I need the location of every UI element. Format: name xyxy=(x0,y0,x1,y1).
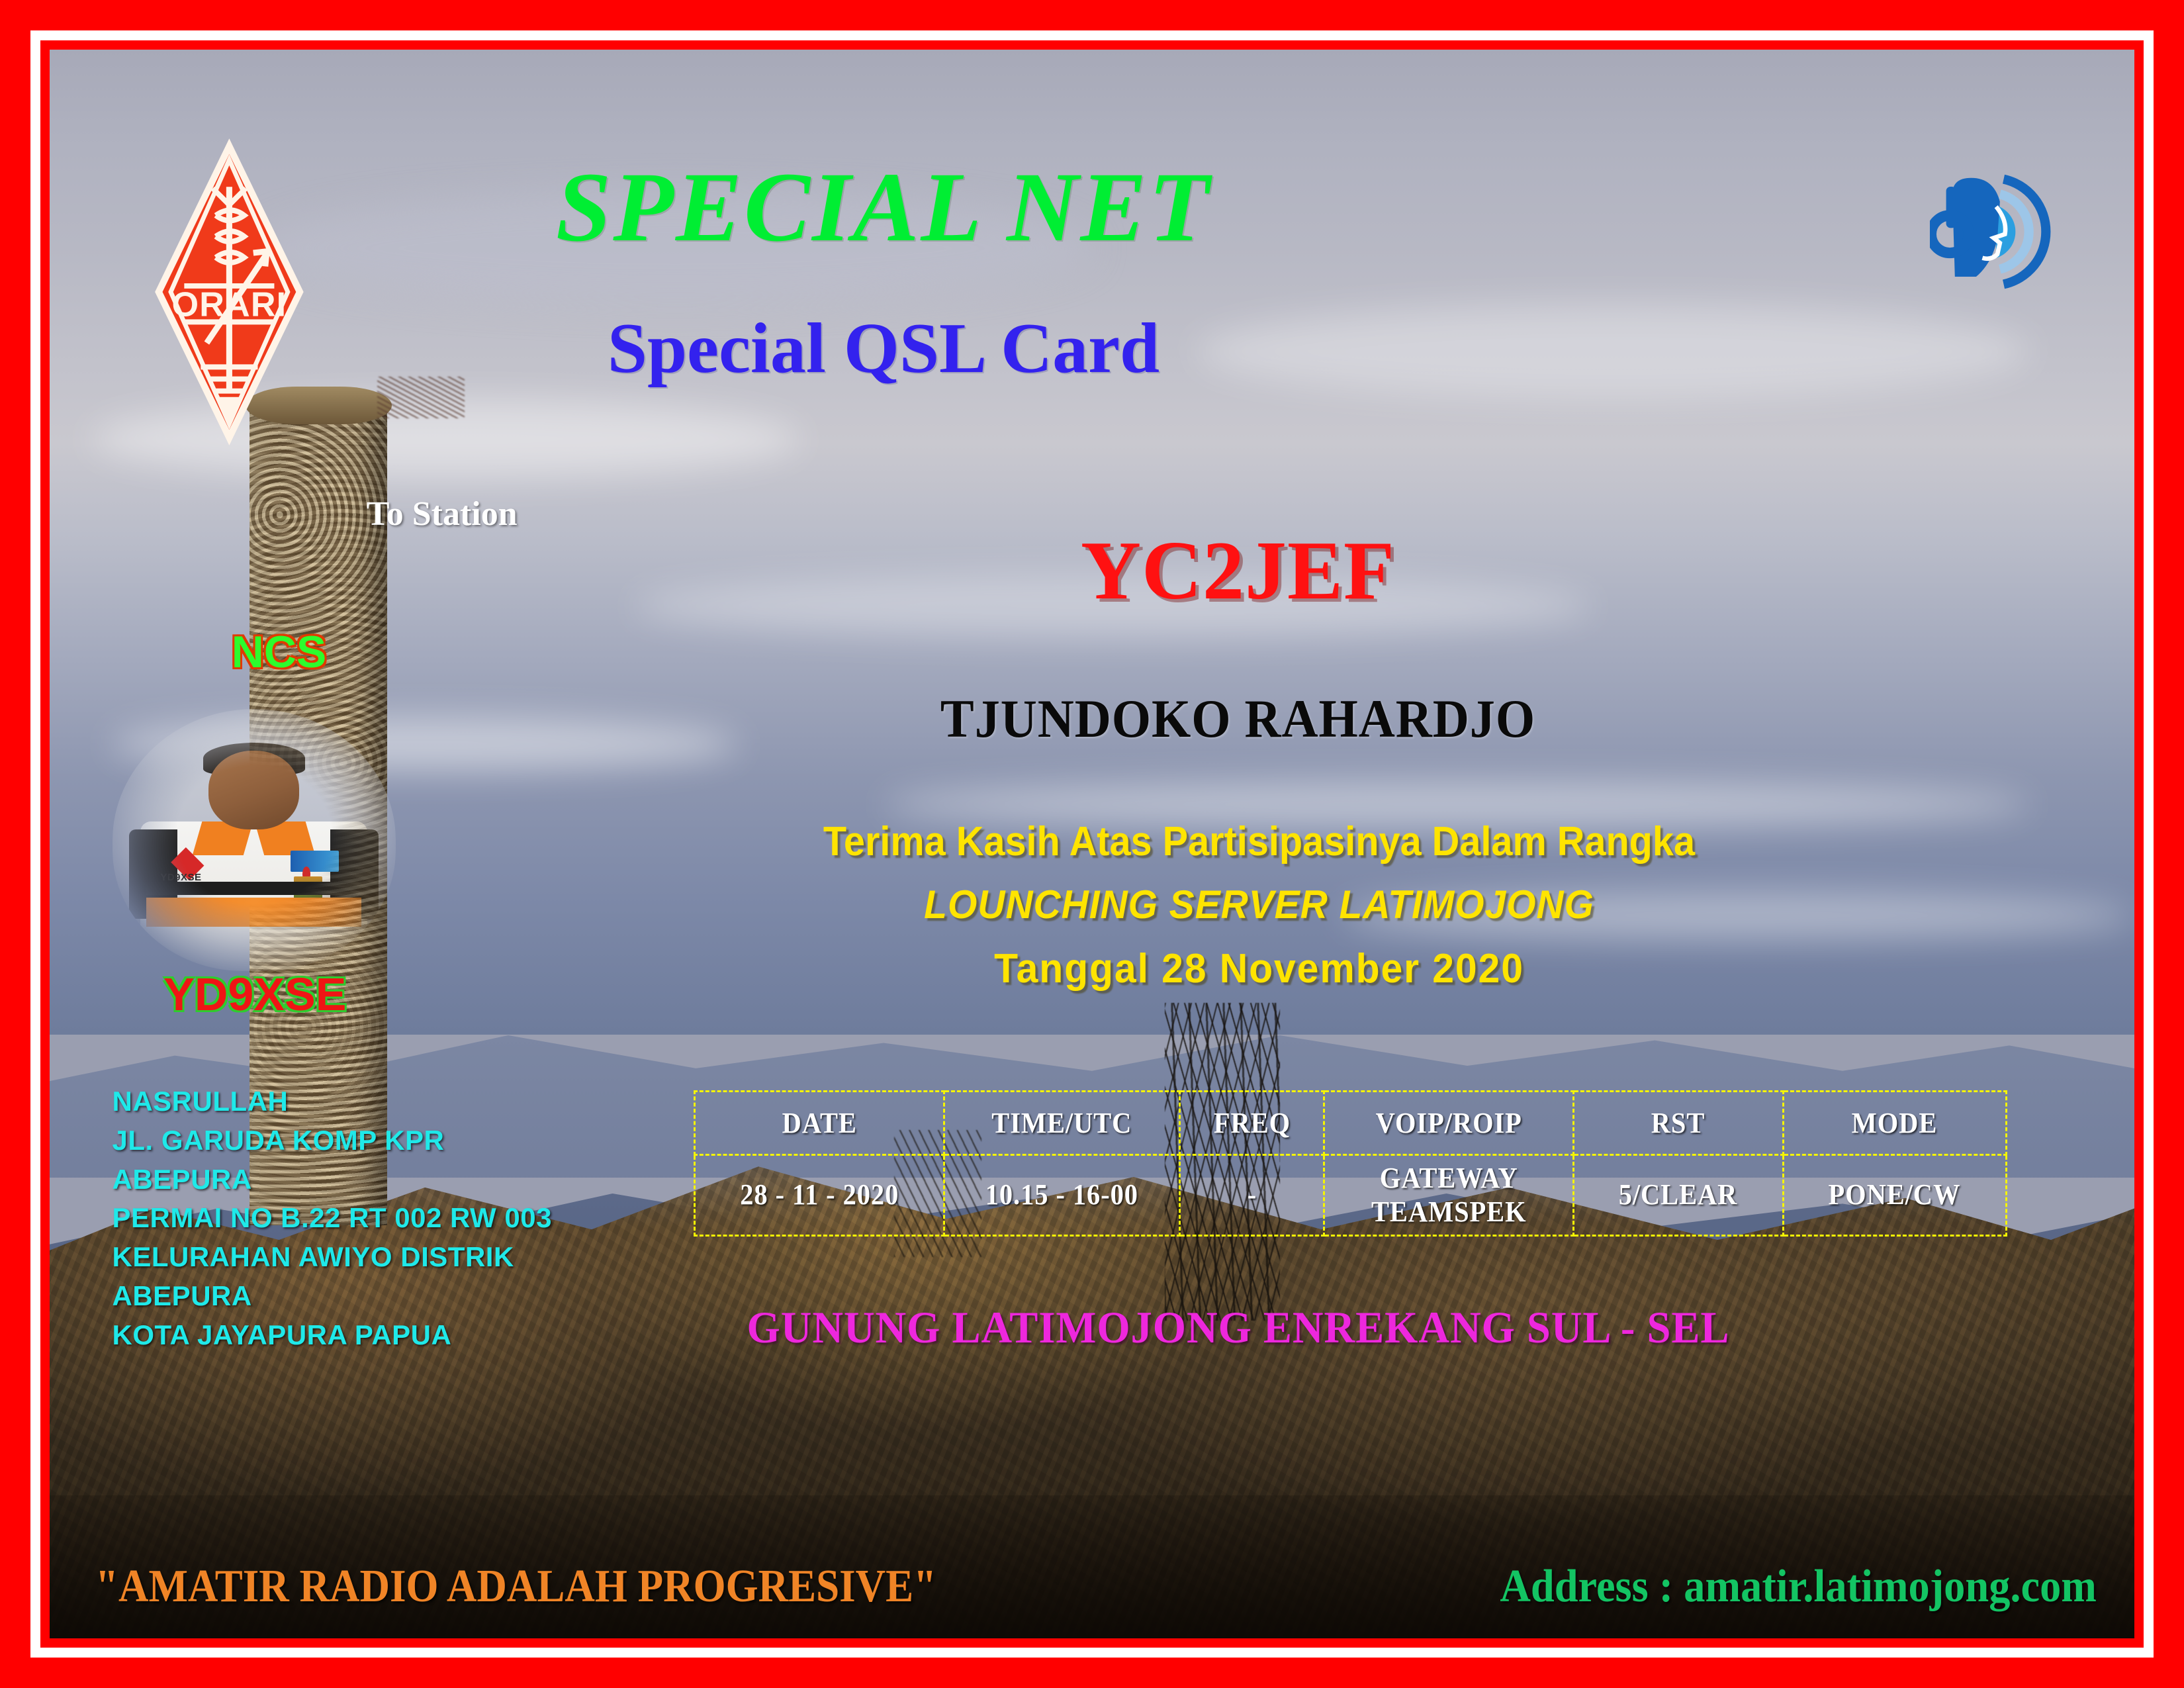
cell-voip-line2: TEAMSPEK xyxy=(1371,1196,1527,1228)
address-line: KOTA JAYAPURA PAPUA xyxy=(113,1316,552,1355)
column-header-rst: RST xyxy=(1582,1092,1775,1155)
ncs-label: NCS xyxy=(175,630,383,675)
cell-voip: GATEWAY TEAMSPEK xyxy=(1334,1155,1563,1236)
table-row: 28 - 11 - 2020 10.15 - 16-00 - GATEWAY T… xyxy=(695,1155,2007,1236)
orange-sash xyxy=(146,898,362,927)
station-callsign: YC2JEF xyxy=(967,530,1509,613)
address-block: NASRULLAH JL. GARUDA KOMP KPR ABEPURA PE… xyxy=(113,1082,552,1355)
qsl-card-frame: ORARI xyxy=(0,0,2184,1688)
qso-log-table: DATE TIME/UTC FREQ VOIP/ROIP RST MODE 28… xyxy=(694,1090,2007,1237)
column-header-freq: FREQ xyxy=(1186,1092,1319,1155)
address-line: JL. GARUDA KOMP KPR xyxy=(113,1121,552,1160)
cell-time: 10.15 - 16-00 xyxy=(954,1155,1171,1236)
address-line: ABEPURA xyxy=(113,1277,552,1316)
chest-patch xyxy=(291,851,339,872)
table-header-row: DATE TIME/UTC FREQ VOIP/ROIP RST MODE xyxy=(695,1092,2007,1155)
event-occasion: LOUNCHING SERVER LATIMOJONG xyxy=(724,885,1794,925)
operator-name: TJUNDOKO RAHARDJO xyxy=(792,692,1684,746)
event-date: Tanggal 28 November 2020 xyxy=(724,949,1794,990)
column-header-date: DATE xyxy=(705,1092,934,1155)
orari-logo: ORARI xyxy=(154,97,304,487)
voip-headset-logo xyxy=(1930,101,2068,363)
belt xyxy=(146,882,362,895)
page-subtitle: Special QSL Card xyxy=(258,313,1509,385)
to-station-label: To Station xyxy=(367,494,518,534)
address-line: KELURAHAN AWIYO DISTRIK xyxy=(113,1238,552,1277)
footer-slogan: "AMATIR RADIO ADALAH PROGRESIVE" xyxy=(95,1564,936,1610)
address-line: NASRULLAH xyxy=(113,1082,552,1121)
uniform-callsign-text: YD9XSE xyxy=(160,872,201,883)
cell-rst: 5/CLEAR xyxy=(1582,1155,1775,1236)
cell-date: 28 - 11 - 2020 xyxy=(705,1155,934,1236)
frame-white-gap: ORARI xyxy=(30,30,2154,1658)
face xyxy=(208,751,299,829)
ncs-callsign: YD9XSE xyxy=(104,971,406,1017)
ncs-operator-photo: YD9XSE xyxy=(113,709,396,971)
page-title: SPECIAL NET xyxy=(258,158,1509,257)
cell-voip-line1: GATEWAY xyxy=(1380,1162,1518,1194)
column-header-time: TIME/UTC xyxy=(954,1092,1171,1155)
cell-freq: - xyxy=(1186,1155,1319,1236)
cell-mode: PONE/CW xyxy=(1792,1155,1997,1236)
column-header-mode: MODE xyxy=(1792,1092,1997,1155)
thanks-message: Terima Kasih Atas Partisipasinya Dalam R… xyxy=(735,821,1782,863)
address-line: PERMAI NO B.22 RT 002 RW 003 xyxy=(113,1199,552,1238)
frame-inner-red: ORARI xyxy=(40,40,2144,1648)
location-caption: GUNUNG LATIMOJONG ENREKANG SUL - SEL xyxy=(644,1305,1833,1350)
card-background-photo: ORARI xyxy=(50,50,2134,1638)
address-line: ABEPURA xyxy=(113,1160,552,1199)
column-header-voip: VOIP/ROIP xyxy=(1334,1092,1563,1155)
footer-website: Address : amatir.latimojong.com xyxy=(1500,1564,2097,1610)
